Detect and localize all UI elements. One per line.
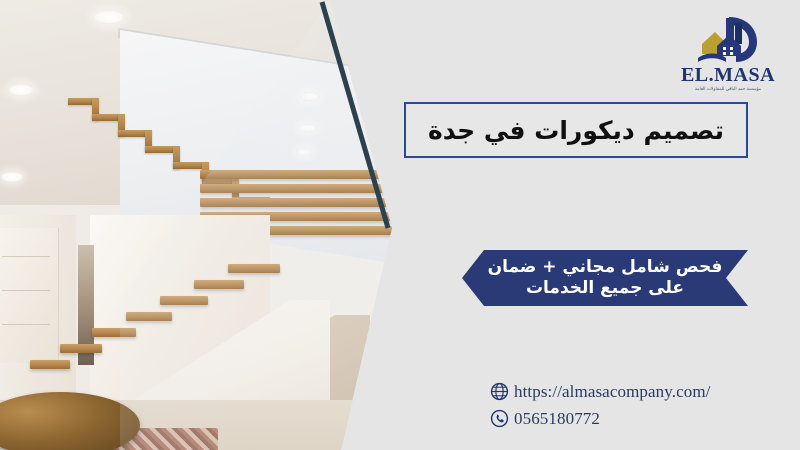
logo-tagline: مؤسسة حمد الباقي للمقاولات العامة: [668, 86, 788, 92]
website-url[interactable]: https://almasacompany.com/: [514, 382, 710, 402]
interior-photo: [0, 0, 400, 450]
phone-number[interactable]: 0565180772: [514, 409, 600, 429]
offer-banner-line-1: فحص شامل مجاني + ضمان: [488, 257, 723, 278]
page-title-box: تصميم ديكورات في جدة: [404, 102, 748, 158]
contact-block: https://almasacompany.com/ 0565180772: [484, 378, 784, 432]
recessed-light: [1, 172, 23, 182]
logo-wordmark: EL.MASA: [668, 64, 788, 87]
photo-scene: [0, 0, 400, 450]
recessed-light: [93, 10, 125, 24]
offer-banner-line-2: على جميع الخدمات: [526, 278, 684, 299]
floating-treads: [30, 246, 270, 376]
offer-banner: فحص شامل مجاني + ضمان على جميع الخدمات: [462, 250, 748, 306]
poster-canvas: EL.MASA مؤسسة حمد الباقي للمقاولات العام…: [0, 0, 800, 450]
website-row[interactable]: https://almasacompany.com/: [484, 378, 784, 405]
globe-icon: [484, 382, 514, 401]
recessed-light: [8, 84, 34, 96]
phone-circle-icon: [484, 409, 514, 428]
phone-row[interactable]: 0565180772: [484, 405, 784, 432]
house-building-roof-icon: [696, 14, 762, 66]
company-logo: EL.MASA مؤسسة حمد الباقي للمقاولات العام…: [668, 14, 788, 98]
page-title: تصميم ديكورات في جدة: [428, 116, 724, 145]
